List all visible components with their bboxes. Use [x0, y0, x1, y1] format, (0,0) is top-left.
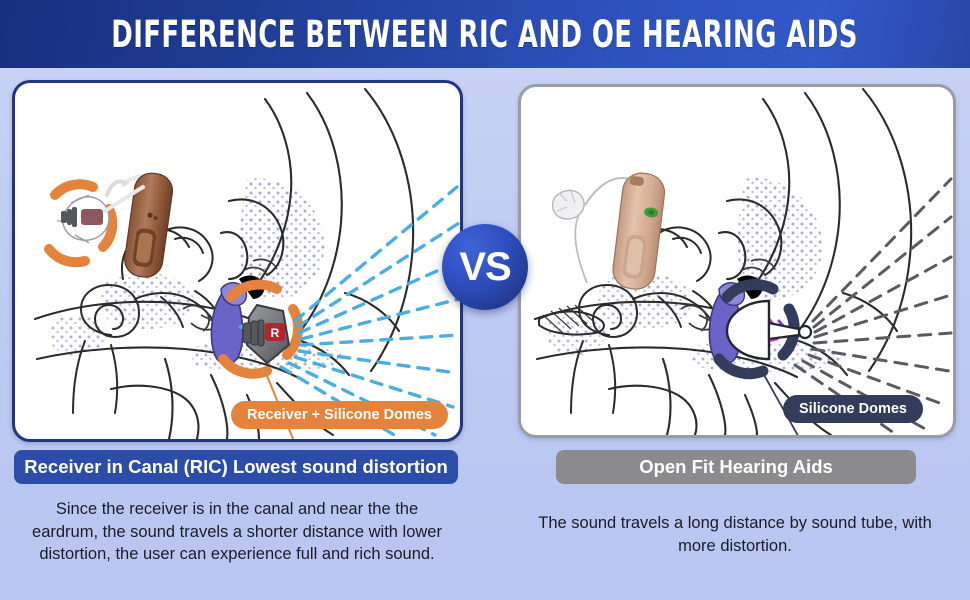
vs-badge: VS [442, 224, 528, 310]
ear-anatomy-open-fit-illustration [521, 87, 953, 435]
right-diagram-panel: Silicone Domes [518, 84, 956, 438]
header-bar: Difference Between RIC and OE Hearing Ai… [0, 0, 970, 68]
left-diagram-panel: R Receiver + Silicone Domes [12, 80, 463, 442]
left-callout-label: Receiver + Silicone Domes [247, 407, 432, 423]
ear-outline [535, 89, 911, 435]
left-banner: Receiver in Canal (RIC) Lowest sound dis… [14, 450, 458, 484]
bte-hearing-aid-device [553, 171, 667, 291]
open-dome-tip [553, 190, 584, 219]
right-banner: Open Fit Hearing Aids [556, 450, 916, 484]
left-banner-label: Receiver in Canal (RIC) Lowest sound dis… [24, 456, 448, 478]
ear-anatomy-ric-illustration: R [15, 83, 460, 439]
page-title: Difference Between RIC and OE Hearing Ai… [112, 16, 859, 53]
left-caption-text: Since the receiver is in the canal and n… [22, 498, 452, 566]
right-callout-label: Silicone Domes [799, 401, 907, 417]
right-caption-text: The sound travels a long distance by sou… [528, 512, 942, 557]
right-caption: The sound travels a long distance by sou… [528, 512, 942, 557]
right-callout-pill: Silicone Domes [783, 395, 923, 423]
right-banner-label: Open Fit Hearing Aids [639, 456, 833, 478]
ear-outline [35, 89, 413, 439]
receiver-marking: R [271, 326, 280, 340]
left-caption: Since the receiver is in the canal and n… [22, 498, 452, 566]
left-callout-pill: Receiver + Silicone Domes [231, 401, 448, 429]
vs-label: VS [459, 245, 510, 290]
infographic-canvas: Difference Between RIC and OE Hearing Ai… [0, 0, 970, 600]
